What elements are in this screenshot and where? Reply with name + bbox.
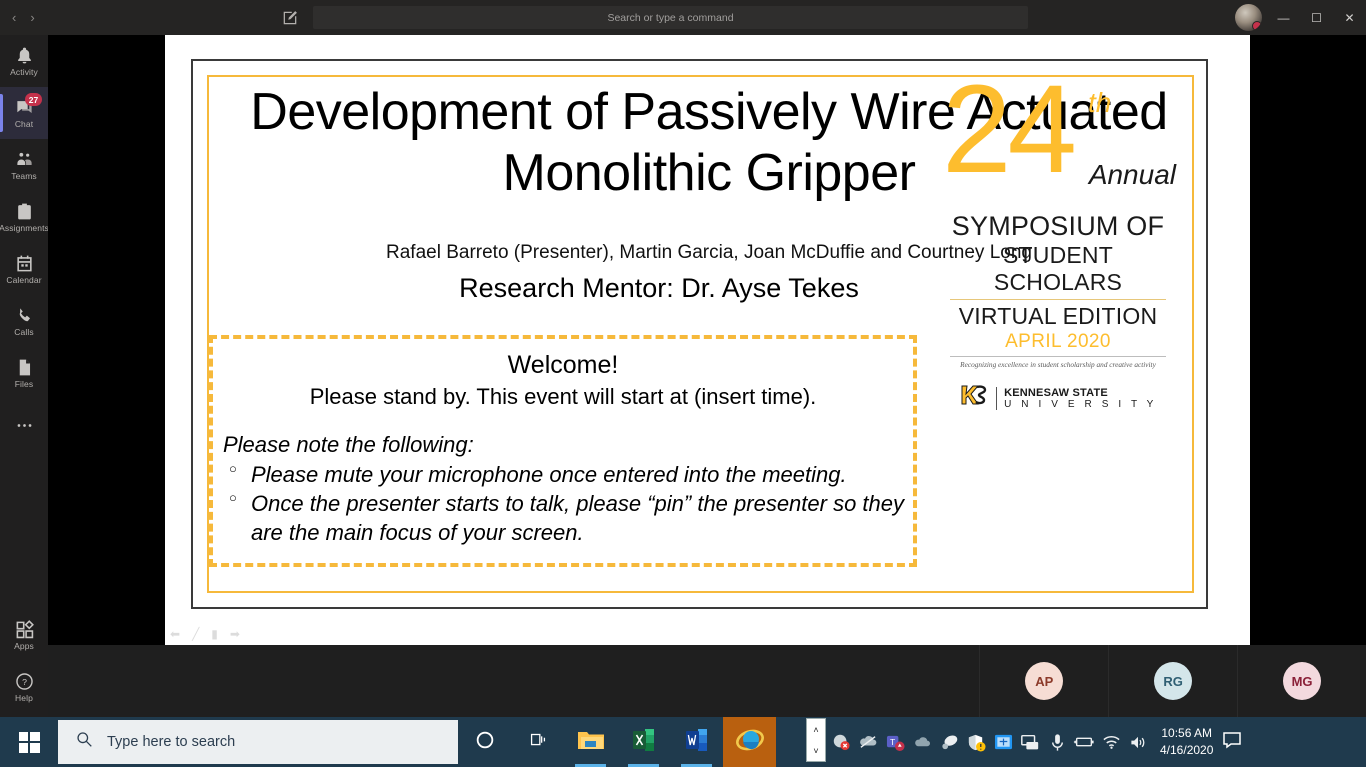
assignments-icon xyxy=(15,201,34,221)
welcome-bullet-list: Please mute your microphone once entered… xyxy=(227,460,913,547)
sidebar-item-chat[interactable]: 27 Chat xyxy=(0,87,48,139)
ksu-wordmark: KENNESAW STATE U N I V E R S I T Y xyxy=(996,387,1157,410)
participant-filmstrip: AP RG MG xyxy=(48,645,1366,717)
sidebar-item-files[interactable]: Files xyxy=(0,347,48,399)
system-tray: T xyxy=(802,717,1150,767)
search-input[interactable]: Search or type a command xyxy=(313,6,1028,29)
sidebar-item-teams[interactable]: Teams xyxy=(0,139,48,191)
antivirus-alert-icon[interactable] xyxy=(829,717,853,767)
sidebar-item-label: Apps xyxy=(14,641,34,651)
clock-date: 4/16/2020 xyxy=(1160,742,1213,759)
prev-slide-icon[interactable]: ⬅ xyxy=(170,627,180,641)
apps-icon xyxy=(15,619,34,639)
symposium-tagline: Recognizing excellence in student schola… xyxy=(940,360,1176,369)
teams-titlebar: ‹ › Search or type a command — ☐ ✕ xyxy=(0,0,1366,35)
file-explorer-button[interactable] xyxy=(564,717,617,767)
minimize-button[interactable]: — xyxy=(1267,0,1300,35)
compose-icon[interactable] xyxy=(281,9,299,27)
list-item: Once the presenter starts to talk, pleas… xyxy=(227,489,913,547)
help-icon: ? xyxy=(15,671,34,691)
more-ellipsis-icon xyxy=(15,415,34,435)
welcome-heading: Welcome! xyxy=(213,351,913,380)
forward-arrow-icon[interactable]: › xyxy=(30,10,34,25)
sidebar-item-label: Calls xyxy=(14,327,33,337)
welcome-subheading: Please stand by. This event will start a… xyxy=(213,384,913,410)
welcome-callout-box: Welcome! Please stand by. This event wil… xyxy=(209,335,917,567)
avatar: AP xyxy=(1025,662,1063,700)
taskbar-clock[interactable]: 10:56 AM 4/16/2020 xyxy=(1160,725,1213,760)
presence-badge xyxy=(1252,21,1262,31)
kennesaw-state-logo: KENNESAW STATE U N I V E R S I T Y xyxy=(940,383,1176,414)
meeting-stage: Development of Passively Wire Actuated M… xyxy=(48,35,1366,717)
symposium-line-1: SYMPOSIUM OF xyxy=(940,211,1176,242)
files-icon xyxy=(15,357,34,377)
divider xyxy=(950,299,1166,300)
cortana-circle-icon xyxy=(474,729,496,756)
close-button[interactable]: ✕ xyxy=(1333,0,1366,35)
app-rail-bottom: Apps ? Help xyxy=(0,609,48,713)
sidebar-item-more[interactable] xyxy=(0,399,48,451)
sidebar-item-activity[interactable]: Activity xyxy=(0,35,48,87)
onedrive-paused-icon[interactable] xyxy=(856,717,880,767)
sidebar-item-label: Assignments xyxy=(0,223,49,233)
task-view-button[interactable] xyxy=(511,717,564,767)
divider xyxy=(950,356,1166,357)
next-slide-icon[interactable]: ➡ xyxy=(230,627,240,641)
presentation-slide: Development of Passively Wire Actuated M… xyxy=(191,59,1208,609)
windows-taskbar: Type here to search xyxy=(0,717,1366,767)
windows-defender-warning-icon[interactable] xyxy=(964,717,988,767)
back-arrow-icon[interactable]: ‹ xyxy=(12,10,16,25)
task-view-icon xyxy=(527,729,549,756)
battery-icon[interactable] xyxy=(1072,717,1096,767)
symposium-logo: 24 th Annual SYMPOSIUM OF STUDENT SCHOLA… xyxy=(940,77,1176,414)
svg-text:?: ? xyxy=(22,677,27,687)
excel-icon xyxy=(632,727,656,758)
ksu-line-1: KENNESAW STATE xyxy=(1004,387,1157,399)
slide-gold-frame: Development of Passively Wire Actuated M… xyxy=(207,75,1194,593)
welcome-note-label: Please note the following: xyxy=(223,432,913,458)
clock-time: 10:56 AM xyxy=(1160,725,1213,742)
phone-icon xyxy=(15,305,34,325)
sidebar-item-calendar[interactable]: Calendar xyxy=(0,243,48,295)
teams-icon xyxy=(15,149,34,169)
microphone-icon[interactable] xyxy=(1045,717,1069,767)
bell-icon xyxy=(15,45,34,65)
sidebar-item-label: Calendar xyxy=(6,275,41,285)
internet-explorer-button[interactable] xyxy=(723,717,776,767)
file-explorer-icon xyxy=(577,728,605,757)
word-button[interactable] xyxy=(670,717,723,767)
display-switch-icon[interactable] xyxy=(1018,717,1042,767)
taskbar-search-placeholder: Type here to search xyxy=(107,734,235,750)
avatar: MG xyxy=(1283,662,1321,700)
internet-explorer-icon xyxy=(735,726,765,759)
symposium-ordinal: th xyxy=(1088,87,1111,119)
scroll-down-icon[interactable]: ˅ xyxy=(813,746,818,756)
search-placeholder: Search or type a command xyxy=(607,12,733,24)
sidebar-item-label: Activity xyxy=(10,67,38,77)
chat-unread-badge: 27 xyxy=(25,93,42,106)
teams-notification-icon[interactable]: T xyxy=(883,717,907,767)
ksu-line-2: U N I V E R S I T Y xyxy=(1004,399,1157,410)
action-center-icon xyxy=(1222,731,1242,754)
taskbar-search-input[interactable]: Type here to search xyxy=(58,720,458,764)
app-rail: Activity 27 Chat Teams Assignments xyxy=(0,35,48,717)
cortana-button[interactable] xyxy=(458,717,511,767)
symposium-line-2: STUDENT SCHOLARS xyxy=(940,242,1176,296)
satellite-icon[interactable] xyxy=(937,717,961,767)
symposium-annual: Annual xyxy=(1089,159,1176,191)
symposium-number: 24 xyxy=(942,67,1073,192)
volume-icon[interactable] xyxy=(1126,717,1150,767)
windows-start-icon xyxy=(19,732,40,753)
sidebar-item-label: Teams xyxy=(11,171,37,181)
avatar[interactable] xyxy=(1235,4,1262,31)
titlebar-nav: ‹ › xyxy=(0,10,64,25)
calendar-icon xyxy=(15,253,34,273)
remote-desktop-icon[interactable] xyxy=(991,717,1015,767)
participant-tile[interactable]: MG xyxy=(1237,645,1366,717)
avatar: RG xyxy=(1154,662,1192,700)
search-icon xyxy=(76,731,93,753)
symposium-line-3: VIRTUAL EDITION xyxy=(940,303,1176,330)
pen-icon[interactable]: ╱ xyxy=(192,627,199,641)
sidebar-item-calls[interactable]: Calls xyxy=(0,295,48,347)
window-controls: — ☐ ✕ xyxy=(1267,0,1366,35)
filmstrip-spacer xyxy=(48,645,979,717)
word-icon xyxy=(685,727,709,758)
sidebar-item-help[interactable]: ? Help xyxy=(0,661,48,713)
participant-tile[interactable]: RG xyxy=(1108,645,1237,717)
symposium-date: APRIL 2020 xyxy=(940,331,1176,353)
excel-button[interactable] xyxy=(617,717,670,767)
sidebar-item-assignments[interactable]: Assignments xyxy=(0,191,48,243)
ksu-monogram-icon xyxy=(959,383,989,414)
list-item: Please mute your microphone once entered… xyxy=(227,460,913,489)
participant-tile[interactable]: AP xyxy=(979,645,1108,717)
scroll-up-icon[interactable]: ˄ xyxy=(813,725,818,735)
symposium-edition-number: 24 th Annual xyxy=(940,77,1176,207)
sidebar-item-label: Help xyxy=(15,693,33,703)
screen: ‹ › Search or type a command — ☐ ✕ Activ… xyxy=(0,0,1366,767)
sidebar-item-label: Files xyxy=(15,379,33,389)
shared-content-surface[interactable]: Development of Passively Wire Actuated M… xyxy=(165,35,1250,647)
blackout-icon[interactable]: ▮ xyxy=(211,627,218,641)
sidebar-item-apps[interactable]: Apps xyxy=(0,609,48,661)
taskbar-scroll-arrows[interactable]: ˄ ˅ xyxy=(806,718,826,762)
wifi-icon[interactable] xyxy=(1099,717,1123,767)
presenter-controls: ⬅ ╱ ▮ ➡ xyxy=(170,627,240,641)
maximize-button[interactable]: ☐ xyxy=(1300,0,1333,35)
start-button[interactable] xyxy=(0,717,58,767)
creative-cloud-icon[interactable] xyxy=(910,717,934,767)
sidebar-item-label: Chat xyxy=(15,119,33,129)
action-center-button[interactable] xyxy=(1213,717,1251,767)
